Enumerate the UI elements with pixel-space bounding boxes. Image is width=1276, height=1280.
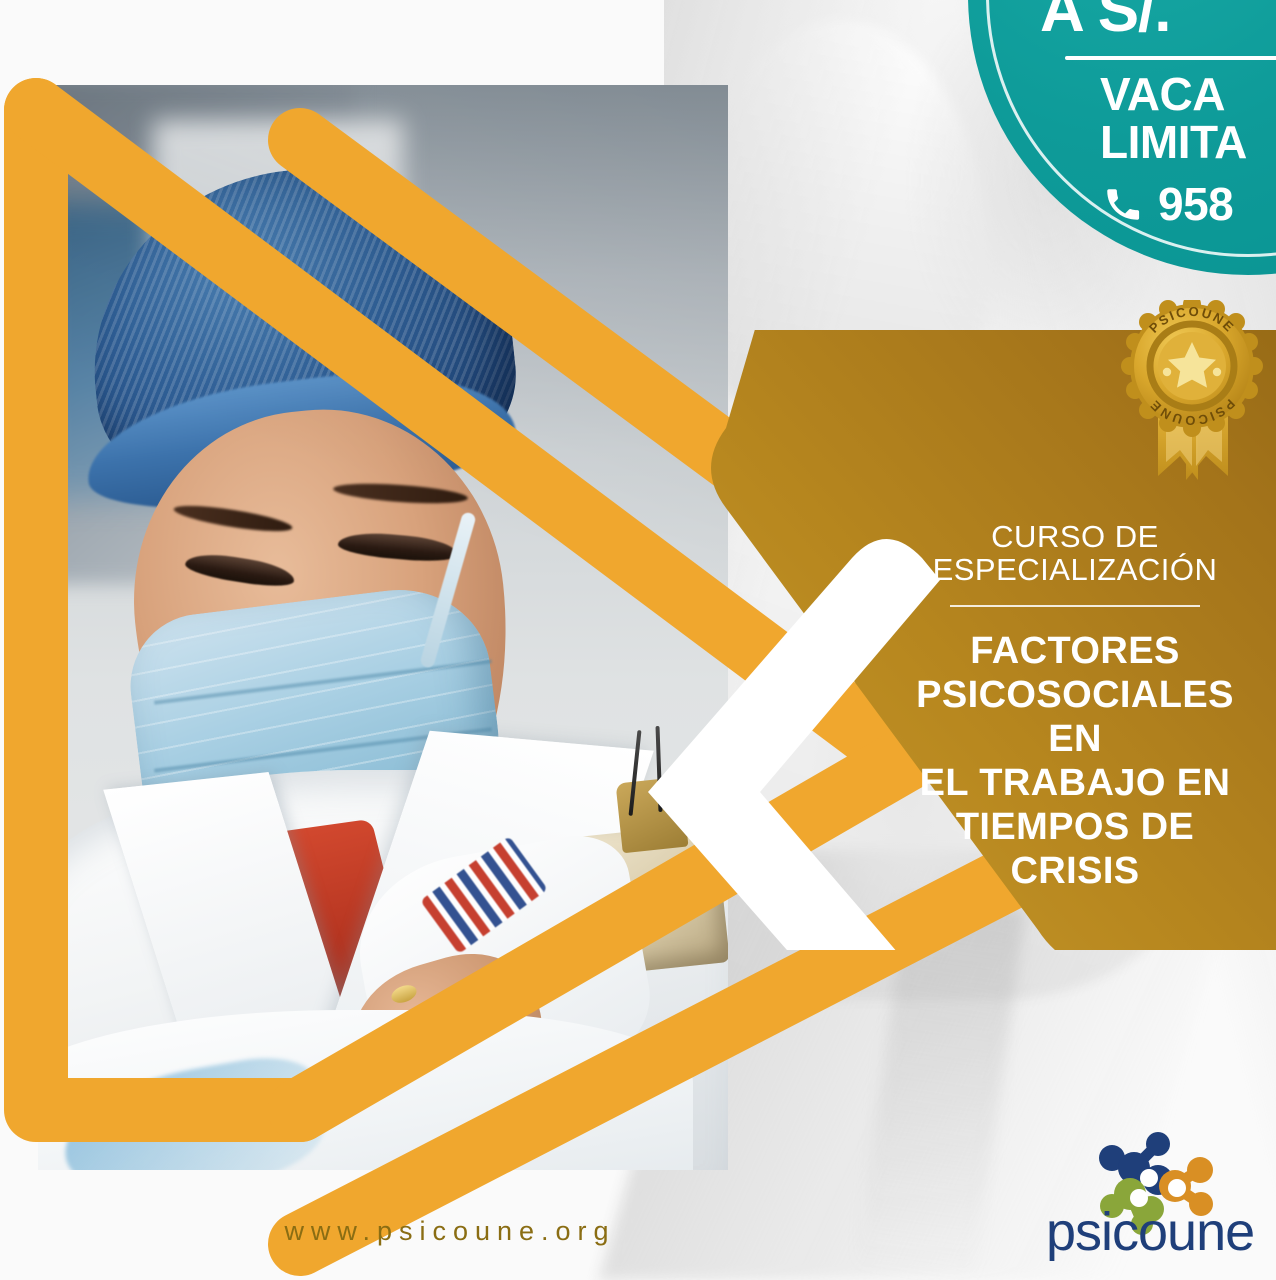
factory-worker-photo bbox=[38, 85, 728, 1170]
course-title: FACTORES PSICOSOCIALES EN EL TRABAJO EN … bbox=[890, 629, 1260, 893]
title-line-2: PSICOSOCIALES EN bbox=[890, 673, 1260, 761]
promo-price: A S/. bbox=[1040, 0, 1276, 42]
title-line-5: CRISIS bbox=[890, 849, 1260, 893]
poster-canvas: CURSO DE ESPECIALIZACIÓN FACTORES PSICOS… bbox=[0, 0, 1276, 1280]
promo-phone-row: 958 bbox=[1102, 177, 1276, 231]
title-line-1: FACTORES bbox=[890, 629, 1260, 673]
brand-wordmark: psicoune bbox=[1046, 1202, 1254, 1262]
promo-badge-content: A S/. VACA LIMITA 958 bbox=[1040, 0, 1276, 231]
vacancy-line-2: LIMITA bbox=[1100, 118, 1276, 166]
vacancy-line-1: VACA bbox=[1100, 70, 1276, 118]
kicker-line-2: ESPECIALIZACIÓN bbox=[890, 553, 1260, 586]
psicoune-logo: psicoune bbox=[1038, 1124, 1268, 1264]
phone-number: 958 bbox=[1158, 177, 1233, 231]
award-seal: PSICOUNE PSICOUNE bbox=[1112, 300, 1272, 500]
promo-divider bbox=[1065, 56, 1276, 60]
title-line-4: TIEMPOS DE bbox=[890, 805, 1260, 849]
kicker-line-1: CURSO DE bbox=[890, 520, 1260, 553]
website-url[interactable]: www.psicoune.org bbox=[0, 1216, 900, 1247]
panel-divider bbox=[950, 605, 1200, 607]
phone-icon bbox=[1102, 183, 1144, 225]
photo-canvas bbox=[38, 85, 728, 1170]
course-panel-content: CURSO DE ESPECIALIZACIÓN FACTORES PSICOS… bbox=[890, 520, 1260, 893]
title-line-3: EL TRABAJO EN bbox=[890, 761, 1260, 805]
course-kicker: CURSO DE ESPECIALIZACIÓN bbox=[890, 520, 1260, 587]
